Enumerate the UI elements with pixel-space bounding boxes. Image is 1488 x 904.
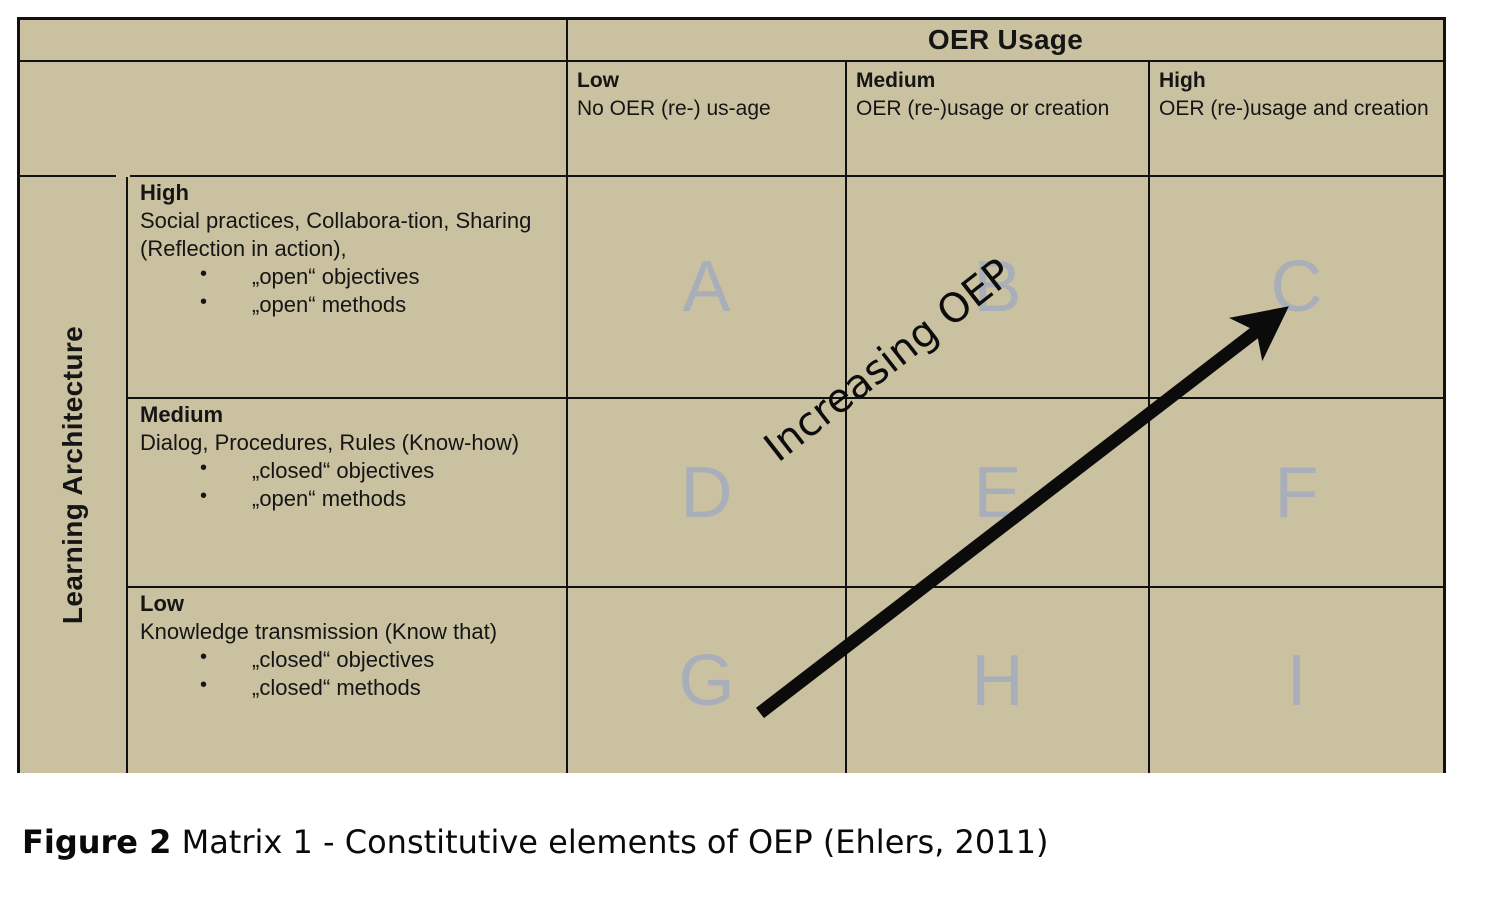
- column-header-low: Low No OER (re-) us-age: [566, 60, 845, 175]
- row-header-high-description: Social practices, Collabora-tion, Sharin…: [140, 207, 560, 263]
- row-header-high-title: High: [140, 179, 560, 207]
- column-header-medium-description: OER (re-)usage or creation: [856, 95, 1141, 123]
- column-header-low-title: Low: [577, 67, 838, 95]
- matrix-cell-c: C: [1148, 175, 1443, 397]
- matrix-cell-g: G: [566, 586, 845, 773]
- row-header-low-bullets: „closed“ objectives „closed“ methods: [140, 646, 560, 702]
- rule-gap-decoration: [116, 173, 130, 177]
- matrix-cell-g-letter: G: [678, 645, 734, 717]
- row-header-high-bullets: „open“ objectives „open“ methods: [140, 263, 560, 319]
- matrix-cell-e-letter: E: [973, 457, 1021, 529]
- matrix-cell-c-letter: C: [1271, 251, 1323, 323]
- row-header-medium: Medium Dialog, Procedures, Rules (Know-h…: [126, 397, 566, 586]
- matrix-cell-i: I: [1148, 586, 1443, 773]
- column-header-medium-title: Medium: [856, 67, 1141, 95]
- row-header-low-title: Low: [140, 590, 560, 618]
- column-header-medium: Medium OER (re-)usage or creation: [845, 60, 1148, 175]
- row-axis-title-column: Learning Architecture: [20, 175, 126, 773]
- row-header-low-description: Knowledge transmission (Know that): [140, 618, 560, 646]
- figure-caption-text: Matrix 1 - Constitutive elements of OEP …: [171, 823, 1048, 861]
- figure-caption-label: Figure 2: [22, 823, 171, 861]
- row-header-high: High Social practices, Collabora-tion, S…: [126, 175, 566, 397]
- list-item: „open“ methods: [200, 485, 560, 513]
- list-item: „closed“ methods: [200, 674, 560, 702]
- column-axis-title: OER Usage: [566, 20, 1443, 60]
- table-corner-blank-top: [20, 20, 566, 60]
- row-header-medium-title: Medium: [140, 401, 560, 429]
- oep-matrix-table: OER Usage Low No OER (re-) us-age Medium…: [17, 17, 1446, 773]
- matrix-cell-f-letter: F: [1275, 457, 1319, 529]
- row-axis-title: Learning Architecture: [57, 326, 89, 624]
- list-item: „closed“ objectives: [200, 457, 560, 485]
- matrix-cell-f: F: [1148, 397, 1443, 586]
- matrix-cell-h-letter: H: [972, 645, 1024, 717]
- column-header-high-title: High: [1159, 67, 1436, 95]
- matrix-cell-a: A: [566, 175, 845, 397]
- row-header-low: Low Knowledge transmission (Know that) „…: [126, 586, 566, 773]
- figure-caption: Figure 2 Matrix 1 - Constitutive element…: [22, 823, 1048, 861]
- matrix-cell-e: E: [845, 397, 1148, 586]
- matrix-cell-i-letter: I: [1286, 645, 1306, 717]
- column-header-low-description: No OER (re-) us-age: [577, 95, 838, 123]
- list-item: „open“ objectives: [200, 263, 560, 291]
- matrix-cell-a-letter: A: [682, 251, 730, 323]
- row-header-medium-bullets: „closed“ objectives „open“ methods: [140, 457, 560, 513]
- figure-container: OER Usage Low No OER (re-) us-age Medium…: [0, 0, 1488, 904]
- list-item: „open“ methods: [200, 291, 560, 319]
- row-header-medium-description: Dialog, Procedures, Rules (Know-how): [140, 429, 560, 457]
- column-header-high: High OER (re-)usage and creation: [1148, 60, 1443, 175]
- table-corner-blank-sub: [20, 60, 566, 175]
- column-header-high-description: OER (re-)usage and creation: [1159, 95, 1436, 123]
- list-item: „closed“ objectives: [200, 646, 560, 674]
- matrix-cell-h: H: [845, 586, 1148, 773]
- matrix-cell-d-letter: D: [681, 457, 733, 529]
